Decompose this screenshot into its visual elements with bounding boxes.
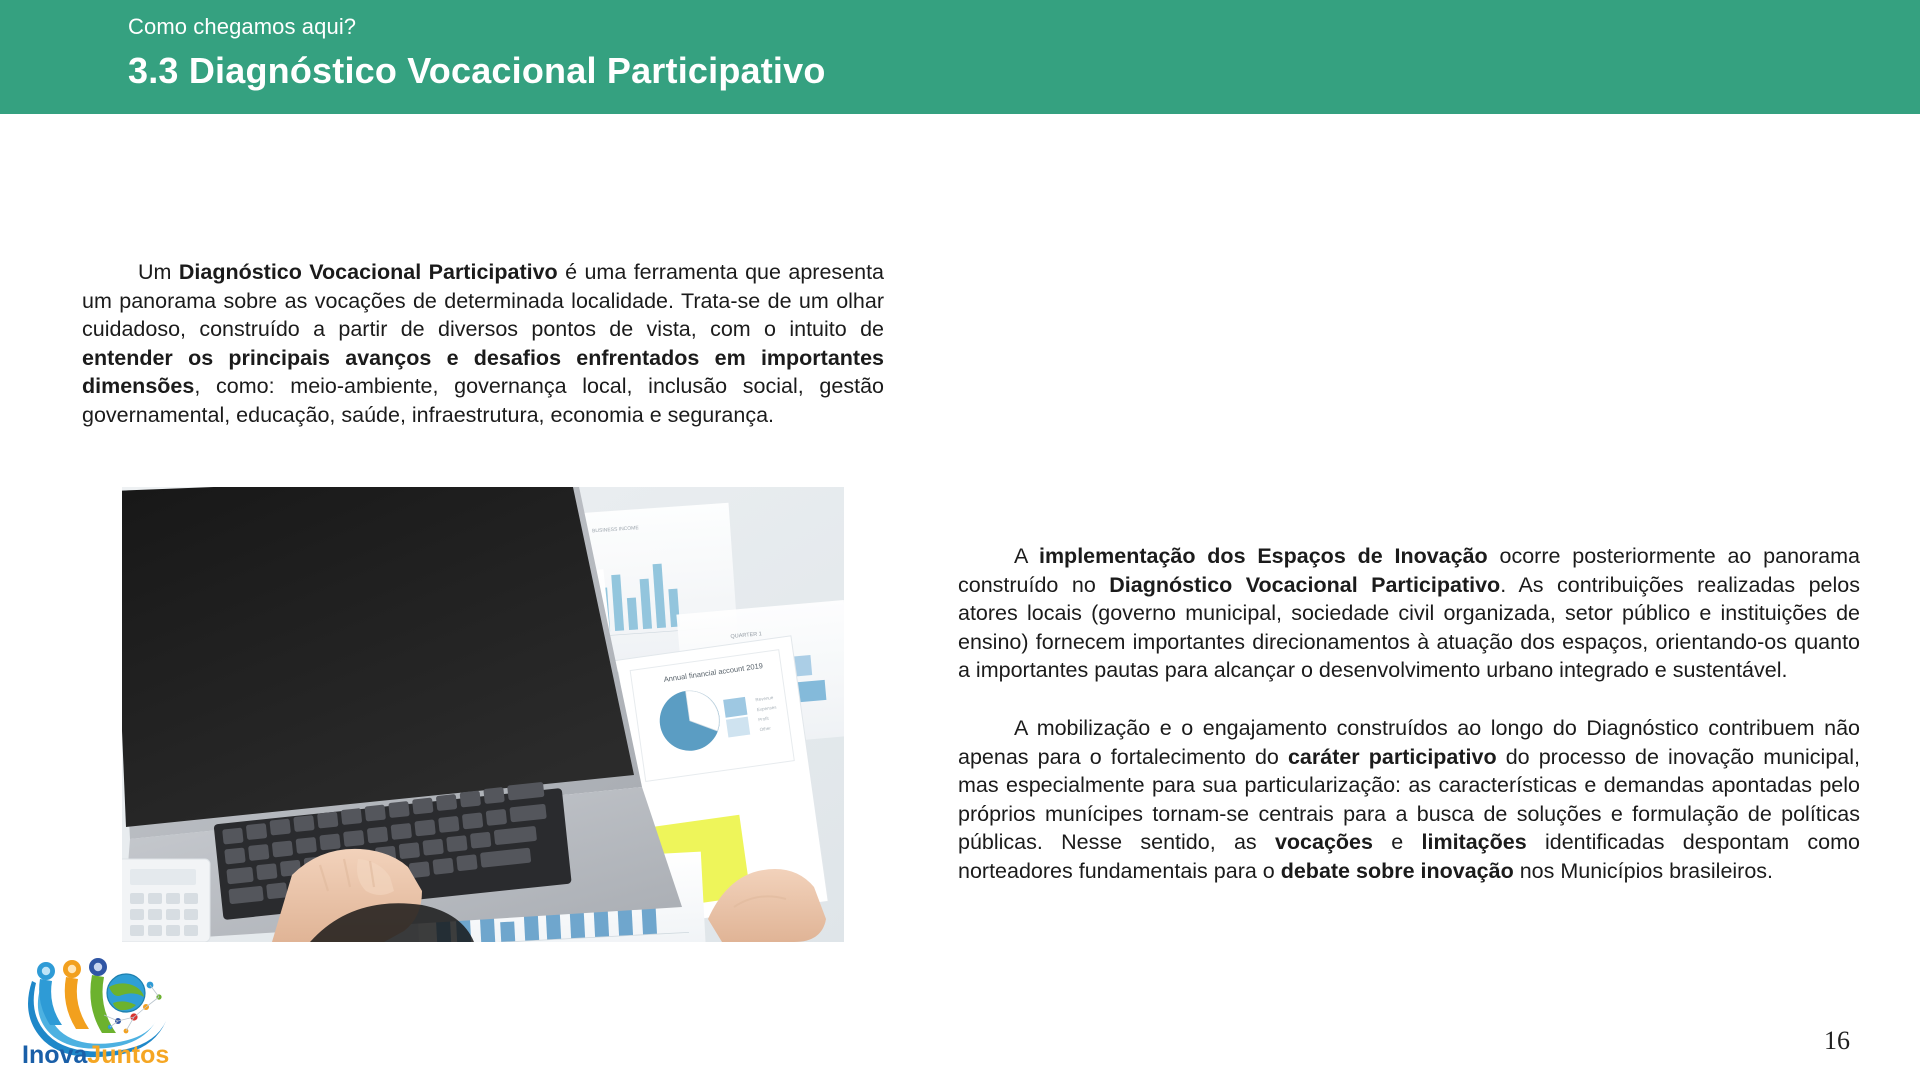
text-run-bold: vocações bbox=[1275, 830, 1373, 854]
page-number: 16 bbox=[1824, 1026, 1850, 1056]
logo-wordmark-juntos: Juntos bbox=[87, 1041, 169, 1069]
text-run-bold: caráter participativo bbox=[1288, 745, 1497, 769]
logo-wordmark-inova: InovaJuntos bbox=[22, 1041, 169, 1069]
illustration-photo: BUSINESS INCOME QUARTER 1 bbox=[122, 487, 844, 942]
page-title: 3.3 Diagnóstico Vocacional Participativo bbox=[128, 50, 826, 92]
right-text-column: A implementação dos Espaços de Inovação … bbox=[958, 542, 1860, 886]
paragraph-left-1: Um Diagnóstico Vocacional Participativo … bbox=[82, 258, 884, 430]
text-run: A bbox=[1014, 544, 1039, 568]
header-band: Como chegamos aqui? 3.3 Diagnóstico Voca… bbox=[0, 0, 1920, 114]
text-run: Um bbox=[138, 260, 179, 284]
text-run-bold: implementação dos Espaços de Inovação bbox=[1039, 544, 1488, 568]
text-run: nos Municípios brasileiros. bbox=[1514, 859, 1773, 883]
text-run: e bbox=[1373, 830, 1422, 854]
inovajuntos-logo: InovaJuntos bbox=[14, 955, 174, 1073]
paragraph-right-2: A mobilização e o engajamento construído… bbox=[958, 714, 1860, 886]
text-run-bold: Diagnóstico Vocacional Participativo bbox=[179, 260, 558, 284]
text-run-bold: Diagnóstico Vocacional Participativo bbox=[1109, 573, 1500, 597]
slide-page: Como chegamos aqui? 3.3 Diagnóstico Voca… bbox=[0, 0, 1920, 1080]
text-run-bold: debate sobre inovação bbox=[1281, 859, 1514, 883]
left-text-column: Um Diagnóstico Vocacional Participativo … bbox=[82, 258, 884, 430]
paragraph-right-1: A implementação dos Espaços de Inovação … bbox=[958, 542, 1860, 685]
header-eyebrow: Como chegamos aqui? bbox=[128, 14, 356, 40]
text-run-bold: limitações bbox=[1422, 830, 1527, 854]
text-run: , como: meio-ambiente, governança local,… bbox=[82, 374, 884, 427]
